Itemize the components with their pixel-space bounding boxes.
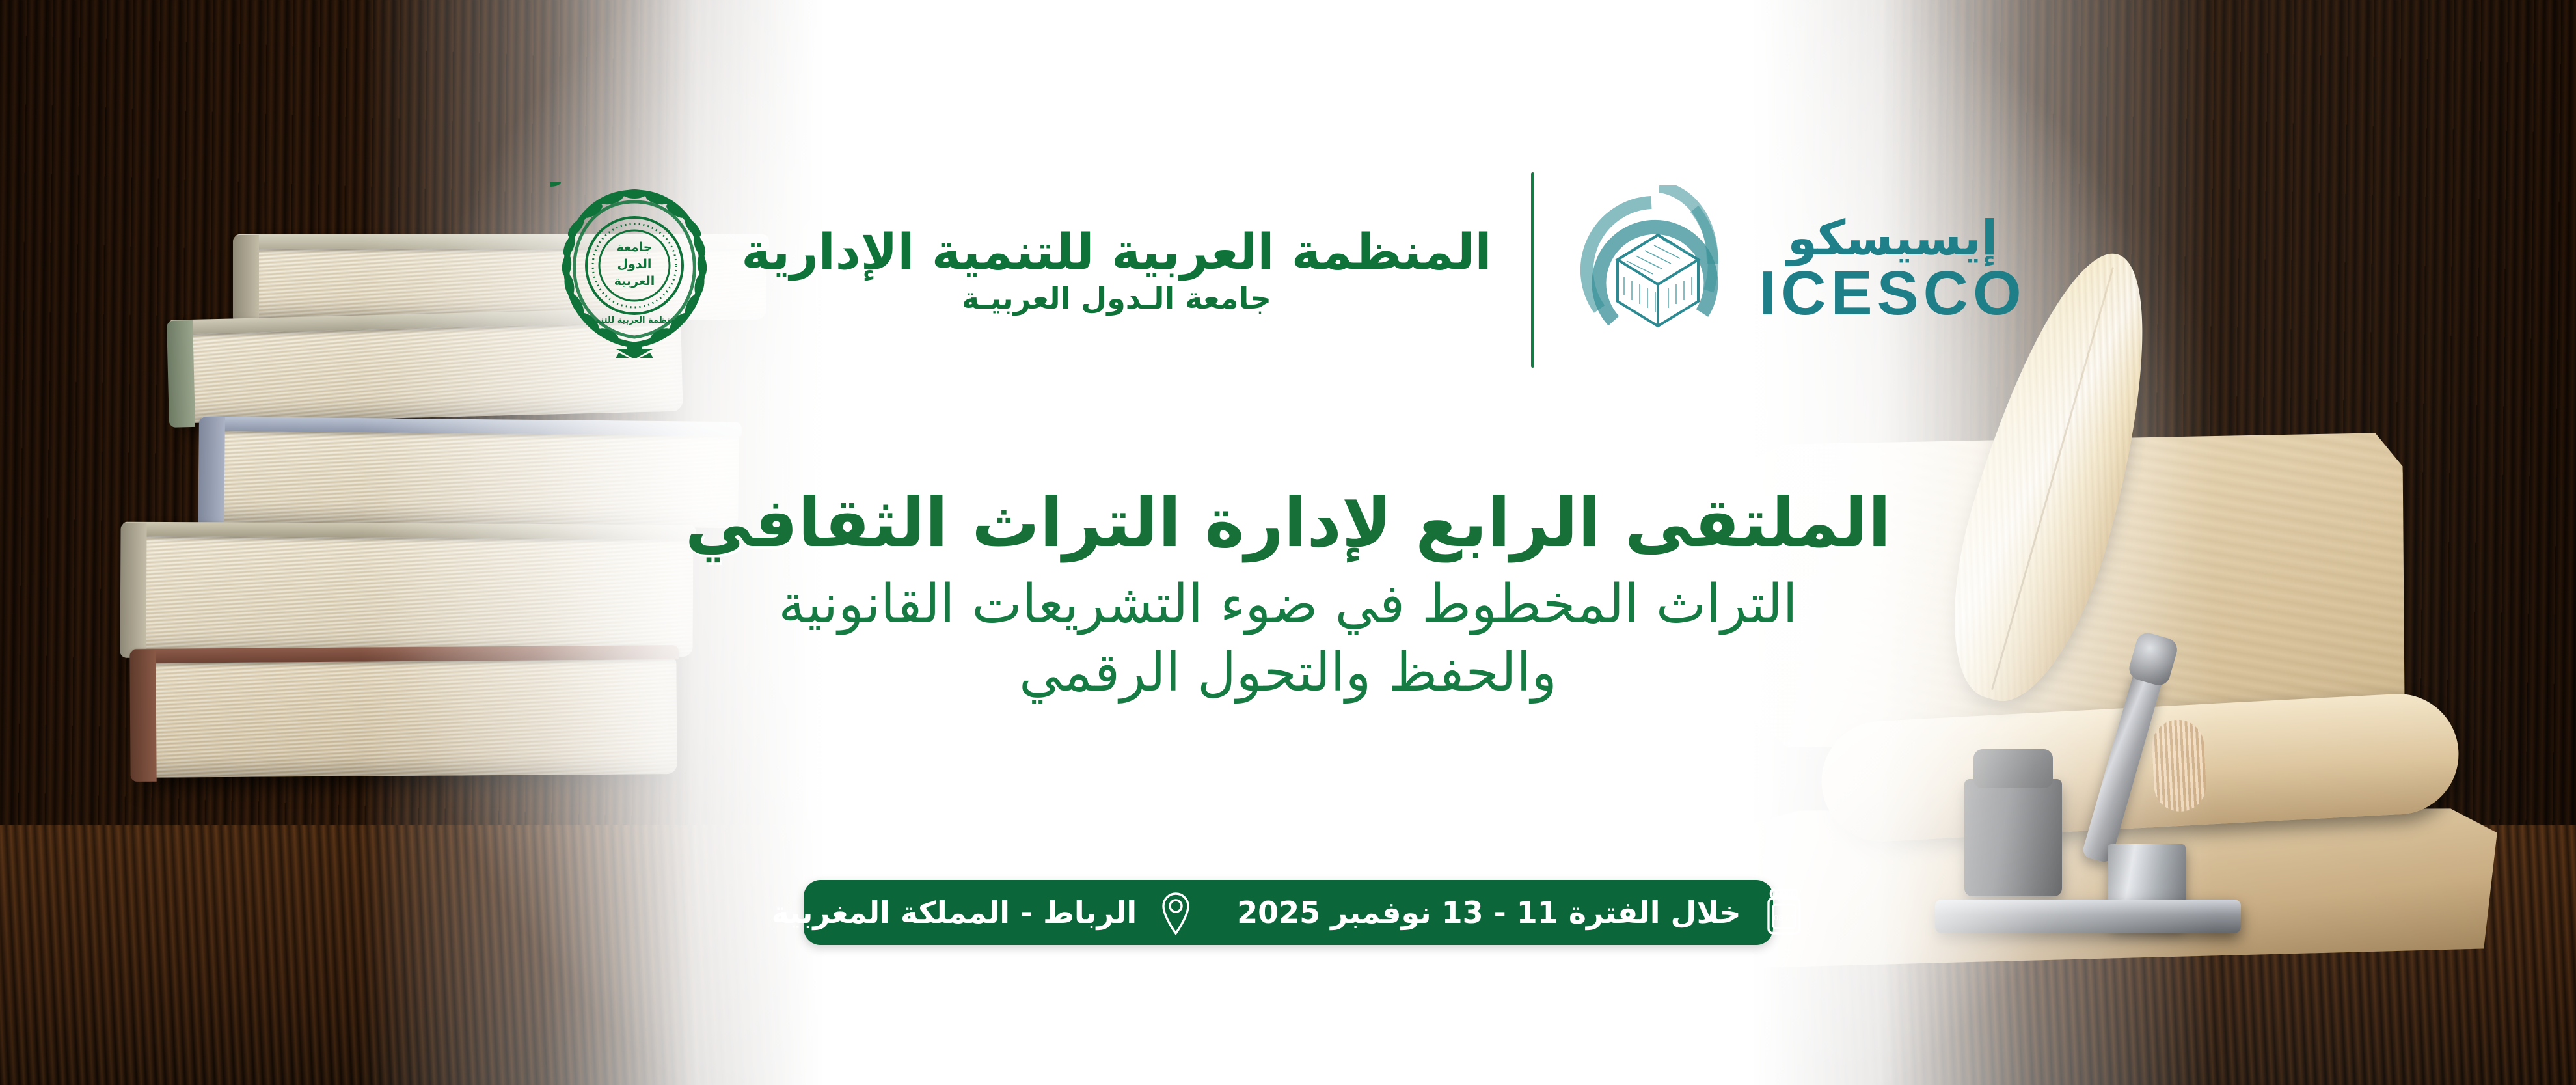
event-title: الملتقى الرابع لإدارة التراث الثقافي [0,485,2576,560]
icesco-arabic-name: إيسيسكو [1787,215,1998,261]
map-pin-icon [1159,889,1193,936]
event-location-text: الرباط - المملكة المغربية [771,898,1137,927]
svg-text:الدول: الدول [617,257,652,271]
calendar-icon: 08-07 [1763,888,1805,937]
logo-row: إيسيسكو ICESCO [0,163,2576,378]
event-subtitle-line2: والحفظ والتحول الرقمي [0,639,2576,707]
icesco-wordmark: إيسيسكو ICESCO [1759,215,2026,325]
event-subtitle: التراث المخطوط في ضوء التشريعات القانوني… [0,571,2576,707]
event-date-text: خلال الفترة 11 - 13 نوفمبر 2025 [1237,898,1741,927]
arado-name-line2: جامعة الـدول العربيـة [962,283,1271,313]
icesco-logo: إيسيسكو ICESCO [1573,185,2026,355]
svg-text:العربية: العربية [614,274,655,288]
arado-wordmark: المنظمة العربية للتنمية الإدارية جامعة ا… [741,227,1491,313]
icesco-latin-name: ICESCO [1759,262,2026,325]
title-block: الملتقى الرابع لإدارة التراث الثقافي الت… [0,485,2576,707]
banner-content: إيسيسكو ICESCO [0,0,2576,1085]
svg-text:جامعة: جامعة [617,240,653,254]
logo-divider [1531,172,1534,368]
event-banner: إيسيسكو ICESCO [0,0,2576,1085]
event-details-badge: 08-07 خلال الفترة 11 - 13 نوفمبر 2025 ال… [804,880,1773,945]
arado-logo: المنظمة العربية للتنمية الإدارية جامعة ا… [550,182,1491,358]
calendar-icon-label: 08-07 [1774,914,1795,922]
icesco-cube-emblem-icon [1573,185,1742,355]
arab-league-wreath-emblem-icon: جامعة الدول العربية المنظمة العربية للتن… [550,182,719,358]
arado-name-line1: المنظمة العربية للتنمية الإدارية [741,227,1491,277]
event-subtitle-line1: التراث المخطوط في ضوء التشريعات القانوني… [0,571,2576,639]
svg-text:المنظمة العربية للتنمية: المنظمة العربية للتنمية [587,316,683,325]
